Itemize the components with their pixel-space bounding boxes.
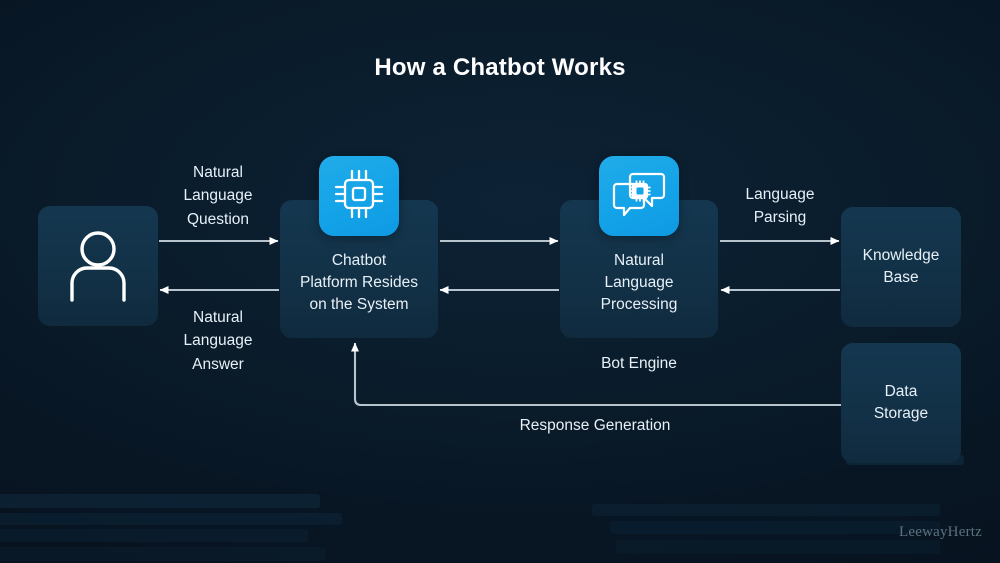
node-data-storage[interactable]: Data Storage [841, 343, 961, 463]
decor-bar [0, 547, 326, 561]
node-data-storage-label: Data Storage [866, 381, 936, 425]
decor-bar [0, 513, 342, 525]
decor-bar [610, 521, 940, 534]
edge-label-natural-language-answer: Natural Language Answer [160, 306, 276, 376]
chip-icon-tile [319, 156, 399, 236]
chip-icon [333, 168, 385, 225]
edge-label-bot-engine: Bot Engine [569, 352, 709, 375]
chat-chip-icon-tile [599, 156, 679, 236]
edge-label-language-parsing: Language Parsing [722, 183, 838, 230]
node-user[interactable] [38, 206, 158, 326]
diagram-canvas: How a Chatbot Works [0, 0, 1000, 563]
edge-label-natural-language-question: Natural Language Question [160, 161, 276, 231]
edge-label-response-generation: Response Generation [490, 414, 700, 437]
chat-chip-icon [611, 168, 667, 225]
watermark: LeewayHertz [899, 524, 982, 541]
user-icon [63, 230, 133, 302]
decor-bar [0, 529, 308, 542]
node-chatbot-platform-label: Chatbot Platform Resides on the System [292, 250, 426, 338]
decor-bar [0, 494, 320, 508]
decor-bar [616, 540, 940, 554]
node-nlp-label: Natural Language Processing [593, 250, 686, 338]
decor-bar [592, 504, 940, 516]
page-title: How a Chatbot Works [0, 54, 1000, 82]
node-knowledge-base[interactable]: Knowledge Base [841, 207, 961, 327]
node-knowledge-base-label: Knowledge Base [855, 245, 948, 289]
